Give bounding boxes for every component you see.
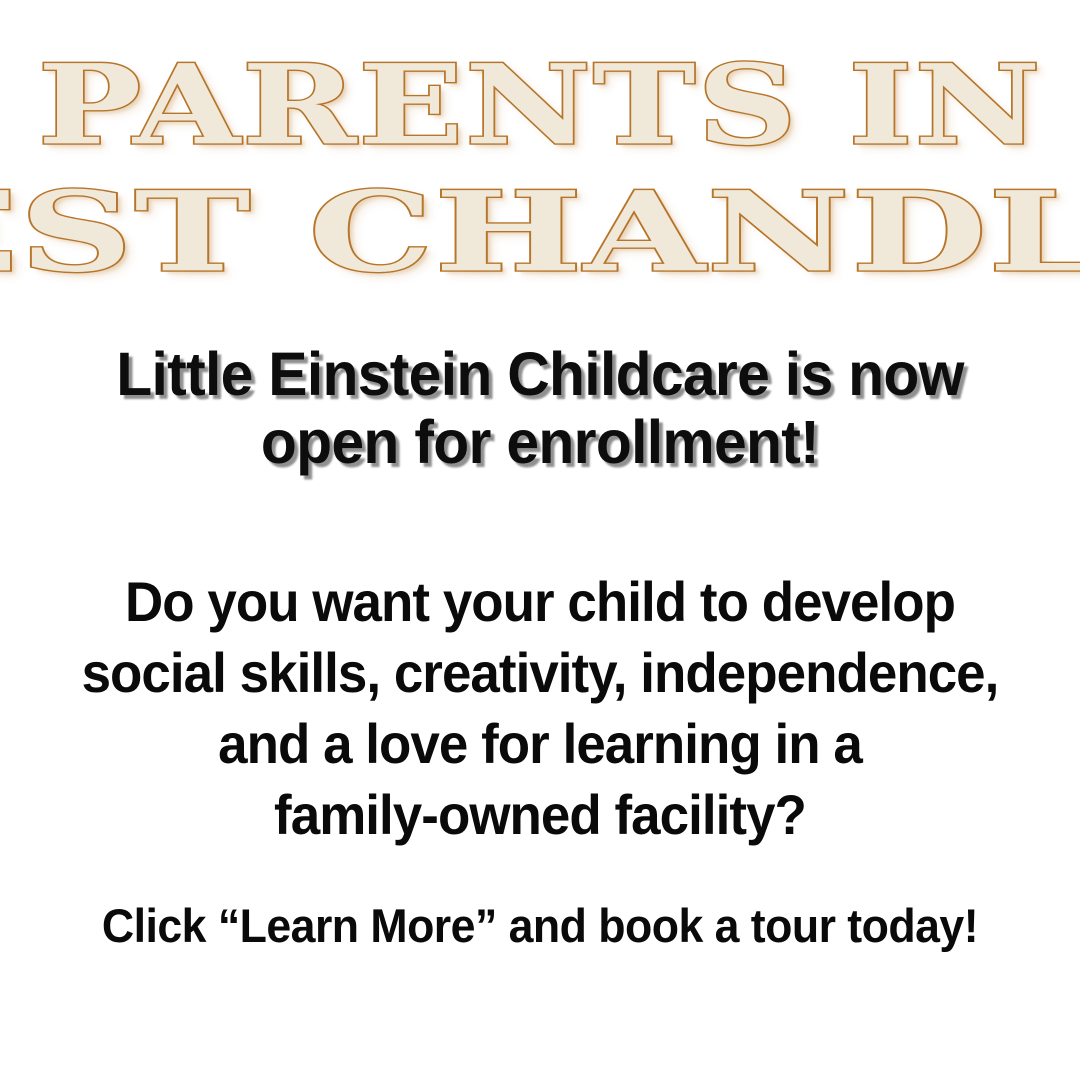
headline-line-2: WEST CHANDLER! [0, 179, 1080, 287]
subtitle-line-1: Little Einstein Childcare is now [116, 340, 963, 408]
cta-text: Click “Learn More” and book a tour today… [65, 898, 1015, 954]
body-line-4: family-owned facility? [68, 779, 1013, 850]
promo-poster: PARENTS IN WEST CHANDLER! Little Einstei… [0, 0, 1080, 1080]
subtitle: Little Einstein Childcare is now open fo… [67, 340, 1013, 477]
body-line-2: social skills, creativity, independence, [68, 637, 1013, 708]
headline: PARENTS IN WEST CHANDLER! [0, 56, 1080, 284]
headline-line-1: PARENTS IN [0, 52, 1080, 160]
body-line-3: and a love for learning in a [68, 708, 1013, 779]
subtitle-line-2: open for enrollment! [261, 408, 819, 476]
body-copy: Do you want your child to develop social… [68, 566, 1013, 850]
body-line-1: Do you want your child to develop [68, 566, 1013, 637]
